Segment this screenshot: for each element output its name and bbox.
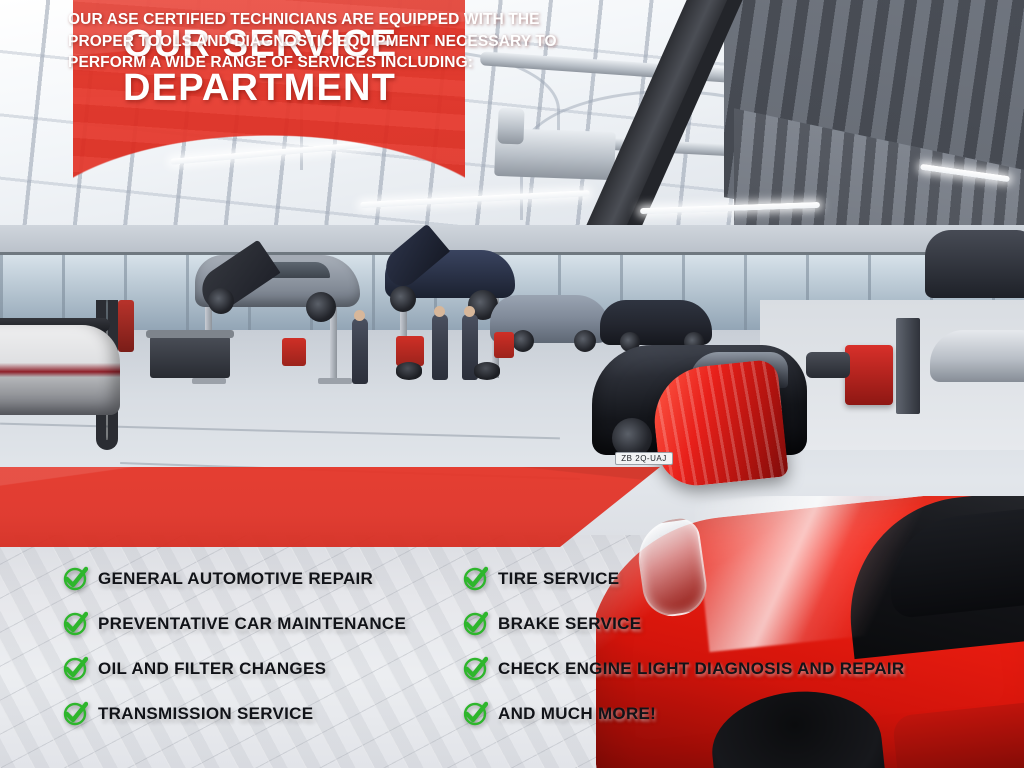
list-item: CHECK ENGINE LIGHT DIAGNOSIS AND REPAIR xyxy=(462,646,1002,691)
check-circle-icon xyxy=(62,701,88,727)
red-tool-cart xyxy=(845,345,893,405)
lift-base xyxy=(318,378,352,384)
check-circle-icon xyxy=(62,656,88,682)
check-circle-icon xyxy=(462,566,488,592)
services-column-right: TIRE SERVICE BRAKE SERVICE xyxy=(462,556,1002,736)
list-item: OIL AND FILTER CHANGES xyxy=(62,646,462,691)
car-wheel xyxy=(306,292,336,322)
intro-text: OUR ASE CERTIFIED TECHNICIANS ARE EQUIPP… xyxy=(68,9,964,74)
car-wheel xyxy=(390,286,416,312)
technician-head xyxy=(464,306,475,317)
lift-base xyxy=(192,378,226,384)
technician-head xyxy=(434,306,445,317)
service-label: AND MUCH MORE! xyxy=(498,704,656,724)
service-label: GENERAL AUTOMOTIVE REPAIR xyxy=(98,569,373,589)
car-wheel xyxy=(574,330,596,352)
services-column-left: GENERAL AUTOMOTIVE REPAIR PREVENTATIVE C… xyxy=(62,556,462,736)
license-plate: ZB 2Q-UAJ xyxy=(615,452,673,465)
tool-cabinet xyxy=(150,336,230,378)
check-circle-icon xyxy=(62,611,88,637)
tool-cart xyxy=(282,338,306,366)
check-circle-icon xyxy=(462,656,488,682)
service-label: PREVENTATIVE CAR MAINTENANCE xyxy=(98,614,406,634)
list-item: GENERAL AUTOMOTIVE REPAIR xyxy=(62,556,462,601)
check-circle-icon xyxy=(462,611,488,637)
equipment-stand xyxy=(806,352,850,378)
services-list: GENERAL AUTOMOTIVE REPAIR PREVENTATIVE C… xyxy=(0,556,1024,746)
tire xyxy=(396,362,422,380)
list-item: TIRE SERVICE xyxy=(462,556,1002,601)
car-dark-background xyxy=(925,230,1024,298)
banner-shading xyxy=(0,467,660,547)
tool-cart xyxy=(494,332,514,358)
intro-banner xyxy=(0,467,660,547)
check-circle-icon xyxy=(462,701,488,727)
service-label: TRANSMISSION SERVICE xyxy=(98,704,313,724)
tire xyxy=(474,362,500,380)
hose-reel xyxy=(118,300,134,352)
car-wheel xyxy=(208,288,234,314)
car-silver-background xyxy=(930,330,1024,382)
list-item: PREVENTATIVE CAR MAINTENANCE xyxy=(62,601,462,646)
technician-head xyxy=(354,310,365,321)
service-label: OIL AND FILTER CHANGES xyxy=(98,659,326,679)
service-label: CHECK ENGINE LIGHT DIAGNOSIS AND REPAIR xyxy=(498,659,905,679)
check-circle-icon xyxy=(62,566,88,592)
list-item: AND MUCH MORE! xyxy=(462,691,1002,736)
service-label: BRAKE SERVICE xyxy=(498,614,641,634)
technician xyxy=(352,318,368,384)
duct-elbow xyxy=(497,108,524,145)
workbench-top xyxy=(146,330,234,338)
service-department-poster: ZB 2Q-UAJ OUR SERVICE DEPARTMENT OUR ASE… xyxy=(0,0,1024,768)
car-wheel xyxy=(512,330,534,352)
list-item: TRANSMISSION SERVICE xyxy=(62,691,462,736)
car-foreground-left xyxy=(0,325,120,415)
list-item: BRAKE SERVICE xyxy=(462,601,1002,646)
service-label: TIRE SERVICE xyxy=(498,569,619,589)
two-post-lift xyxy=(896,318,920,414)
technician xyxy=(432,314,448,380)
